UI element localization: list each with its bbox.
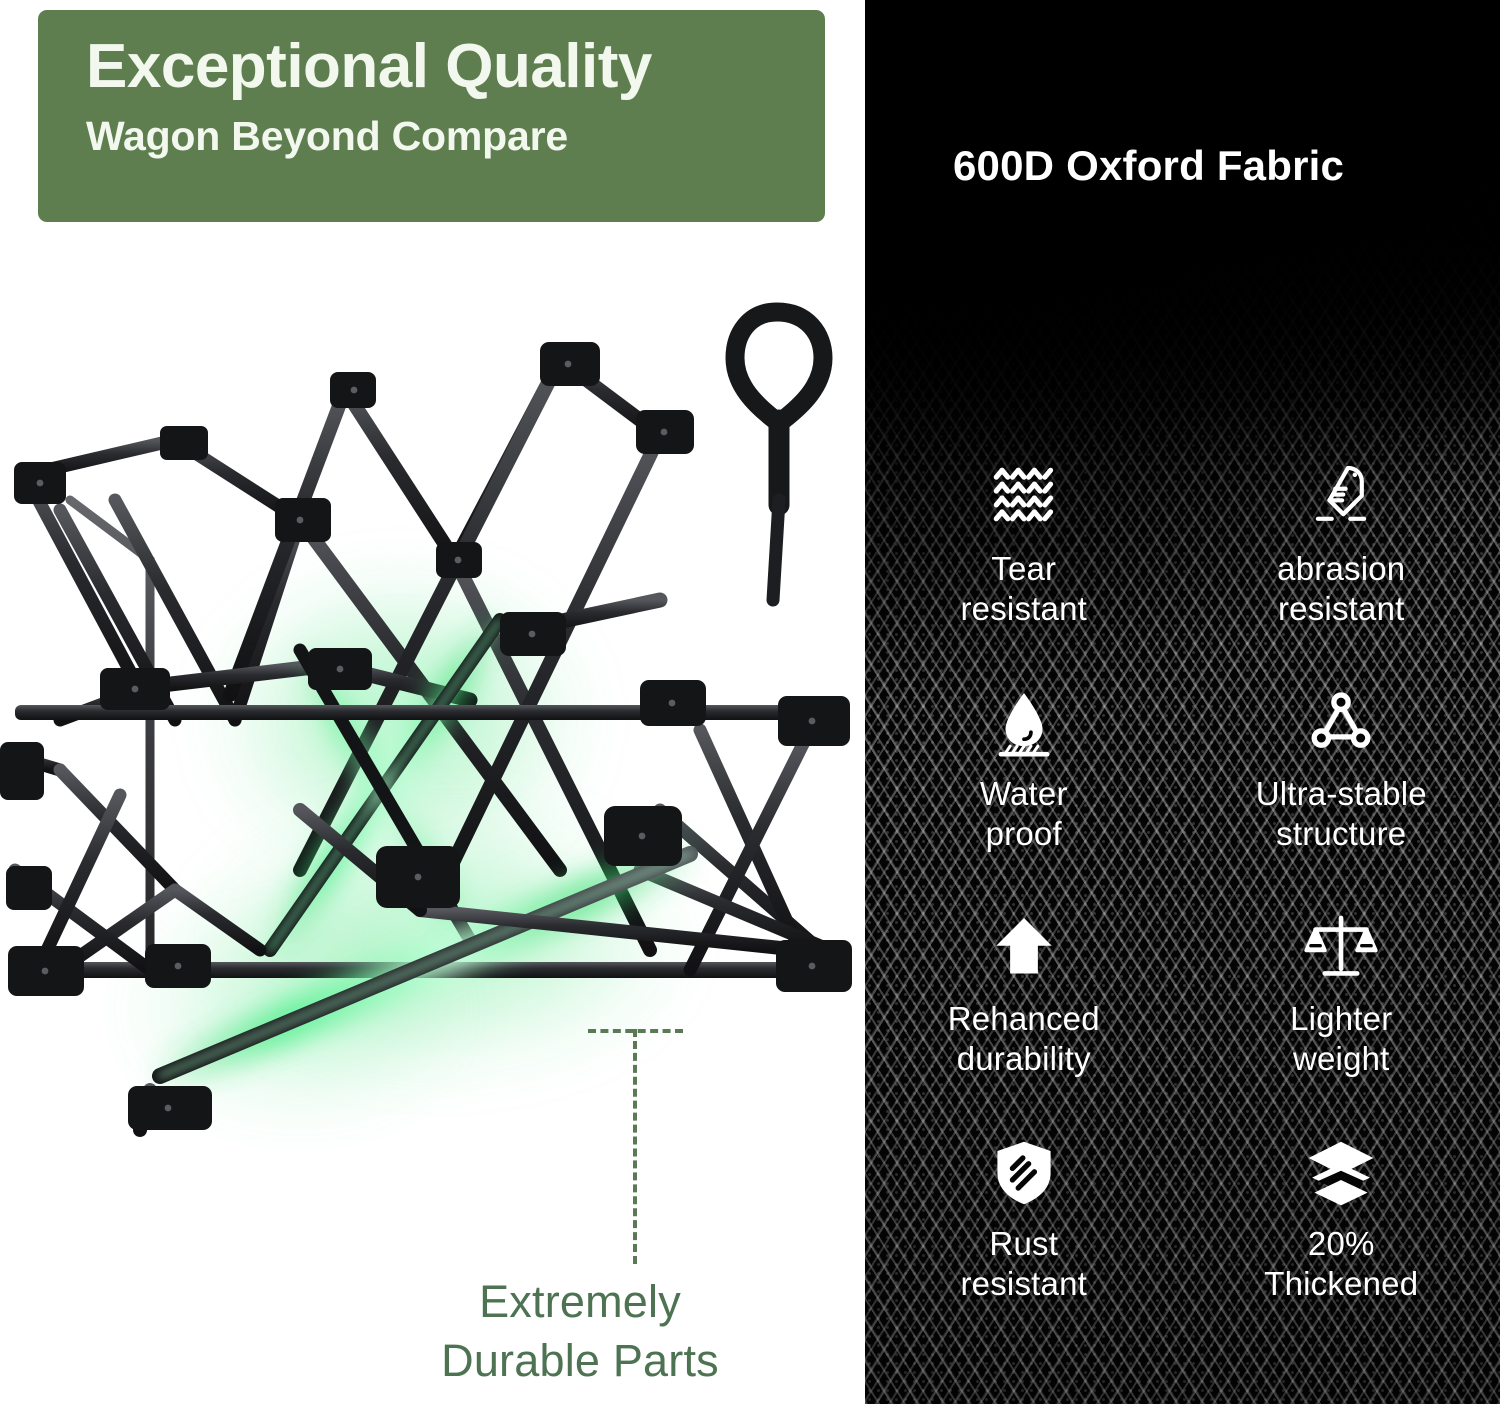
feature-label-line2: weight (1290, 1039, 1392, 1079)
product-feature-graphic: Exceptional Quality Wagon Beyond Compare (0, 0, 1500, 1404)
feature-label-line2: resistant (1277, 589, 1405, 629)
feature-item-abrasion-resistant: abrasion resistant (1183, 455, 1500, 680)
feature-label-line1: Rust (989, 1225, 1058, 1262)
balance-scale-icon (1304, 911, 1378, 985)
feature-label-line2: resistant (960, 1264, 1087, 1304)
feature-label-line2: durability (948, 1039, 1100, 1079)
feature-label-line1: Tear (991, 550, 1056, 587)
feature-label-line1: Lighter (1290, 1000, 1392, 1037)
fabric-title: 600D Oxford Fabric (953, 142, 1344, 190)
weave-zigzag-icon (987, 461, 1061, 535)
feature-label: Ultra-stable structure (1256, 774, 1427, 853)
feature-label-line1: abrasion (1277, 550, 1405, 587)
feature-label: Lighter weight (1290, 999, 1392, 1078)
feature-item-ultra-stable-structure: Ultra-stable structure (1183, 680, 1500, 905)
callout-line-2: Durable Parts (300, 1331, 860, 1390)
headline-secondary: Wagon Beyond Compare (86, 113, 825, 160)
feature-item-tear-resistant: Tear resistant (865, 455, 1183, 680)
feature-label-line2: structure (1256, 814, 1427, 854)
feature-label: 20% Thickened (1264, 1224, 1418, 1303)
molecule-triangle-icon (1304, 686, 1378, 760)
water-droplet-icon (987, 686, 1061, 760)
wagon-frame-svg (0, 250, 865, 1150)
feature-item-lighter-weight: Lighter weight (1183, 905, 1500, 1130)
feature-label-line1: Ultra-stable (1256, 775, 1427, 812)
feature-label-line1: Water (980, 775, 1068, 812)
feature-item-thickened: 20% Thickened (1183, 1130, 1500, 1355)
feature-label-line2: proof (980, 814, 1068, 854)
shield-icon (987, 1136, 1061, 1210)
durable-parts-callout: Extremely Durable Parts (300, 1272, 860, 1391)
cutter-blade-icon (1304, 461, 1378, 535)
wagon-handle (735, 312, 823, 600)
feature-label: Rehanced durability (948, 999, 1100, 1078)
left-panel: Exceptional Quality Wagon Beyond Compare (0, 0, 865, 1404)
feature-label: Tear resistant (960, 549, 1087, 628)
feature-item-rust-resistant: Rust resistant (865, 1130, 1183, 1355)
callout-leader-vertical (633, 1029, 637, 1264)
arrow-up-icon (987, 911, 1061, 985)
layers-stack-icon (1304, 1136, 1378, 1210)
feature-item-water-proof: Water proof (865, 680, 1183, 905)
feature-label: abrasion resistant (1277, 549, 1405, 628)
feature-label-line2: resistant (960, 589, 1087, 629)
wagon-illustration (0, 250, 865, 1150)
headline-primary: Exceptional Quality (86, 32, 825, 101)
feature-item-enhanced-durability: Rehanced durability (865, 905, 1183, 1130)
feature-label: Water proof (980, 774, 1068, 853)
headline-badge: Exceptional Quality Wagon Beyond Compare (38, 10, 825, 222)
callout-line-1: Extremely (479, 1276, 681, 1327)
fabric-panel: 600D Oxford Fabric (865, 0, 1500, 1404)
feature-label-line1: Rehanced (948, 1000, 1100, 1037)
feature-grid: Tear resistant (865, 455, 1500, 1355)
feature-label: Rust resistant (960, 1224, 1087, 1303)
feature-label-line1: 20% (1308, 1225, 1375, 1262)
feature-label-line2: Thickened (1264, 1264, 1418, 1304)
